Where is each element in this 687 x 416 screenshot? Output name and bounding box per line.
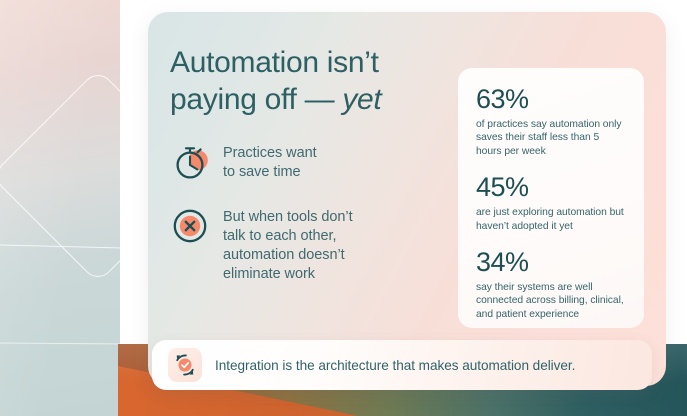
takeaway-text: Integration is the architecture that mak… xyxy=(215,358,575,373)
bullet-list: Practices want to save time But when too… xyxy=(170,140,460,306)
stat-value: 45% xyxy=(476,172,626,203)
infographic-canvas: Automation isn’t paying off — yet xyxy=(0,0,687,416)
stat-description: of practices say automation only saves t… xyxy=(476,118,626,158)
page-title: Automation isn’t paying off — yet xyxy=(170,44,460,118)
page-title-line2: paying off — xyxy=(170,83,342,116)
stats-panel: 63% of practices say automation only sav… xyxy=(458,68,644,328)
page-title-line1: Automation isn’t xyxy=(170,46,379,79)
stat-description: say their systems are well connected acr… xyxy=(476,281,626,321)
takeaway-banner: Integration is the architecture that mak… xyxy=(152,340,652,390)
stopwatch-icon xyxy=(170,142,210,182)
stat-item: 45% are just exploring automation but ha… xyxy=(476,172,626,233)
stat-item: 34% say their systems are well connected… xyxy=(476,247,626,321)
page-title-emphasis: yet xyxy=(342,83,381,116)
stat-item: 63% of practices say automation only sav… xyxy=(476,84,626,158)
circle-x-icon xyxy=(170,206,210,246)
sync-check-icon xyxy=(168,348,202,382)
list-item: But when tools don’t talk to each other,… xyxy=(170,204,460,284)
main-card: Automation isn’t paying off — yet xyxy=(148,12,666,386)
stat-value: 34% xyxy=(476,247,626,278)
stat-description: are just exploring automation but haven’… xyxy=(476,206,626,233)
list-item: Practices want to save time xyxy=(170,140,460,182)
stat-value: 63% xyxy=(476,84,626,115)
list-item-label: But when tools don’t talk to each other,… xyxy=(223,204,353,284)
list-item-label: Practices want to save time xyxy=(223,140,317,182)
